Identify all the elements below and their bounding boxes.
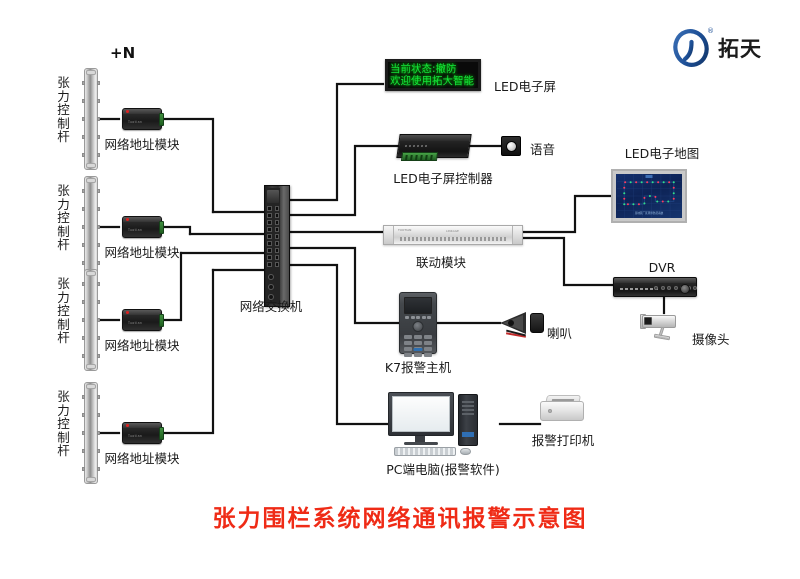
tuotian-logo-icon: ® — [672, 28, 712, 68]
k7-display — [404, 297, 432, 314]
k7-keypad[interactable] — [404, 335, 432, 357]
network-switch-label: 网络交换机 — [240, 296, 303, 315]
network-address-module-label-2: 网络地址模块 — [104, 242, 179, 261]
security-camera — [640, 313, 684, 341]
status-led-icon — [126, 311, 129, 314]
diagram-title: 张力围栏系统网络通讯报警示意图 — [213, 499, 588, 533]
led-controller-label: LED电子屏控制器 — [393, 168, 493, 187]
pc-label: PC端电脑(报警软件) — [386, 459, 500, 478]
tension-control-post-2 — [84, 176, 98, 278]
network-address-module-label-1: 网络地址模块 — [104, 134, 179, 153]
alarm-printer — [540, 395, 586, 423]
led-map-label: LED电子地图 — [625, 143, 700, 162]
diagram-canvas: ® 拓天 +N 张力控制杆 Tuotian 网络地址模块 张力控制杆 Tuoti… — [0, 0, 800, 579]
status-led-icon — [126, 218, 129, 221]
led-screen-line-2: 欢迎使用拓大智能 — [390, 75, 478, 87]
network-address-module-2: Tuotian — [122, 216, 162, 238]
status-led-icon — [126, 424, 129, 427]
network-switch — [264, 185, 290, 307]
k7-alarm-host[interactable] — [399, 292, 437, 354]
tension-control-post-4 — [84, 382, 98, 484]
tension-control-post-3 — [84, 269, 98, 371]
voice-announcer-device — [501, 136, 521, 156]
dvr-device — [613, 277, 697, 297]
speaker-dome-icon — [506, 141, 517, 152]
tension-post-label-2: 张力控制杆 — [57, 184, 70, 252]
linkage-module: TUOTIANLINKAGE — [383, 225, 523, 245]
tension-post-label-3: 张力控制杆 — [57, 277, 70, 345]
k7-nav-dial[interactable] — [413, 321, 424, 332]
k7-alarm-host-label: K7报警主机 — [385, 357, 451, 376]
led-electronic-map: 某地区厂区周界防范系统 — [611, 169, 687, 223]
led-display-screen: 当前状态:撤防 欢迎使用拓大智能 — [385, 59, 481, 91]
camera-label: 摄像头 — [692, 329, 730, 348]
network-address-module-label-4: 网络地址模块 — [104, 448, 179, 467]
linkage-module-label: 联动模块 — [416, 252, 466, 271]
printer-label: 报警打印机 — [532, 430, 595, 449]
led-map-caption: 某地区厂区周界防范系统 — [635, 211, 664, 215]
plus-n-annotation: +N — [110, 44, 135, 62]
pc-mouse[interactable] — [460, 448, 471, 455]
tension-post-label-4: 张力控制杆 — [57, 390, 70, 458]
network-address-module-3: Tuotian — [122, 309, 162, 331]
brand-name: 拓天 — [718, 33, 762, 63]
brand-logo: ® 拓天 — [672, 28, 762, 68]
pc-monitor — [388, 392, 454, 436]
tension-post-label-1: 张力控制杆 — [57, 76, 70, 144]
pc-keyboard[interactable] — [394, 447, 456, 456]
camera-lens-icon — [644, 317, 652, 325]
status-led-icon — [126, 110, 129, 113]
registered-mark: ® — [707, 27, 714, 35]
led-screen-controller — [396, 134, 471, 158]
network-address-module-4: Tuotian — [122, 422, 162, 444]
pc-tower — [458, 394, 478, 446]
speaker-label: 喇叭 — [547, 323, 572, 342]
horn-speaker — [500, 310, 546, 336]
pc-workstation[interactable] — [388, 392, 500, 458]
network-address-module-label-3: 网络地址模块 — [104, 335, 179, 354]
dvr-label: DVR — [649, 260, 676, 275]
led-screen-label: LED电子屏 — [494, 76, 556, 95]
led-screen-line-1: 当前状态:撤防 — [390, 63, 478, 75]
tension-control-post-1 — [84, 68, 98, 170]
voice-label: 语音 — [530, 139, 555, 158]
network-address-module-1: Tuotian — [122, 108, 162, 130]
